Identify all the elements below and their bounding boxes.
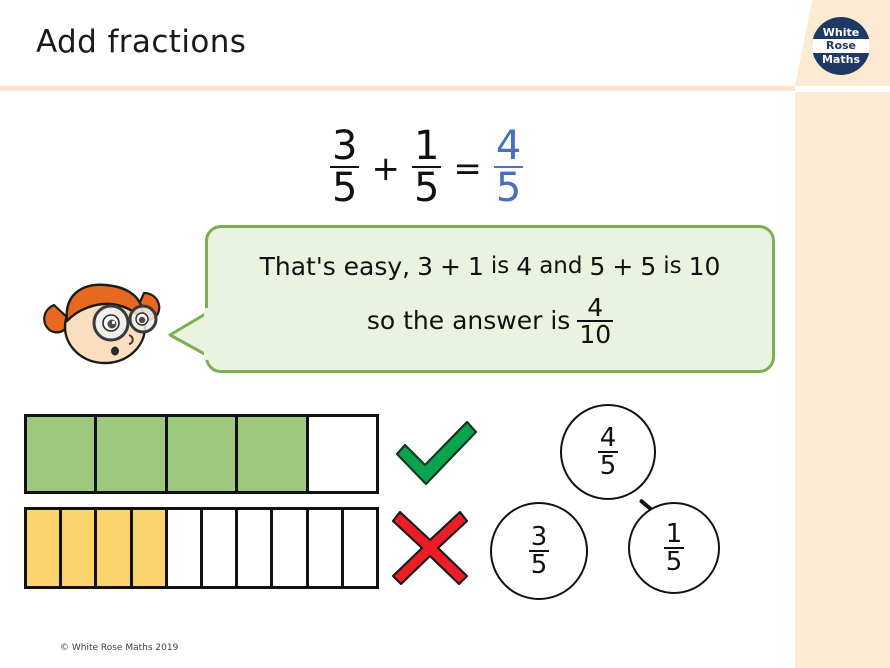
equation-answer: 4 5 xyxy=(494,126,523,208)
bar-cell xyxy=(344,510,376,586)
speech-line-2: so the answer is 4 10 xyxy=(367,295,613,347)
bar-cell xyxy=(168,417,238,491)
speech-num-5a: 5 xyxy=(589,252,605,281)
white-rose-maths-logo: White Rose Maths xyxy=(812,17,870,75)
tick-icon xyxy=(392,418,480,492)
speech-num-1: 1 xyxy=(468,252,484,281)
answer-numerator: 4 xyxy=(494,126,523,166)
speech-num-5b: 5 xyxy=(640,252,656,281)
speech-word-is-1: is xyxy=(491,253,509,279)
speech-num-4: 4 xyxy=(516,252,532,281)
speech-word-is-2: is xyxy=(663,253,681,279)
part-b-fraction: 1 5 xyxy=(664,521,685,575)
term-2-numerator: 1 xyxy=(412,126,441,166)
fraction-equation: 3 5 + 1 5 = 4 5 xyxy=(330,126,523,208)
equation-term-1: 3 5 xyxy=(330,126,359,208)
page-title: Add fractions xyxy=(36,24,246,60)
answer-denominator: 5 xyxy=(494,166,523,208)
logo-band: Rose xyxy=(812,39,870,53)
speech-num-3: 3 xyxy=(417,252,433,281)
term-2-denominator: 5 xyxy=(412,166,441,208)
bar-cell xyxy=(27,510,62,586)
bar-cell xyxy=(62,510,97,586)
term-1-denominator: 5 xyxy=(330,166,359,208)
bar-cell xyxy=(168,510,203,586)
speech-num-10: 10 xyxy=(689,252,721,281)
logo-line-white: White xyxy=(823,26,859,39)
girl-character-icon xyxy=(36,275,176,370)
equation-term-2: 1 5 xyxy=(412,126,441,208)
bar-cell xyxy=(97,510,132,586)
bar-cell xyxy=(309,510,344,586)
part-a-fraction: 3 5 xyxy=(529,524,550,578)
part-a-numerator: 3 xyxy=(529,524,550,550)
part-b-denominator: 5 xyxy=(664,547,685,575)
plus-operator: + xyxy=(369,149,402,189)
part-whole-part-a-node: 3 5 xyxy=(490,502,588,600)
logo-line-rose: Rose xyxy=(812,39,870,53)
speech-bubble-text: That's easy, 3 + 1 is 4 and 5 + 5 is 10 … xyxy=(208,228,772,370)
bar-cell xyxy=(238,417,308,491)
term-1-numerator: 3 xyxy=(330,126,359,166)
slide-canvas: Add fractions White Rose Maths 3 5 + 1 5… xyxy=(0,0,890,668)
bar-cell xyxy=(27,417,97,491)
part-a-denominator: 5 xyxy=(529,550,550,578)
part-whole-whole-node: 4 5 xyxy=(560,404,656,500)
speech-bubble: That's easy, 3 + 1 is 4 and 5 + 5 is 10 … xyxy=(205,225,775,373)
equals-operator: = xyxy=(451,149,484,189)
speech-answer-fraction: 4 10 xyxy=(577,295,613,347)
speech-answer-denominator: 10 xyxy=(577,320,613,347)
whole-denominator: 5 xyxy=(598,451,619,479)
bar-cell xyxy=(238,510,273,586)
part-whole-model: 4 5 3 5 1 5 xyxy=(480,402,770,602)
speech-line-1: That's easy, 3 + 1 is 4 and 5 + 5 is 10 xyxy=(260,252,721,281)
logo-line-maths: Maths xyxy=(822,53,860,66)
speech-word-and: and xyxy=(539,253,582,279)
bar-cell xyxy=(203,510,238,586)
speech-plus-2: + xyxy=(612,252,633,281)
speech-phrase-thats-easy: That's easy, xyxy=(260,252,411,281)
whole-numerator: 4 xyxy=(598,425,619,451)
part-whole-part-b-node: 1 5 xyxy=(628,502,720,594)
copyright-footer: © White Rose Maths 2019 xyxy=(60,643,178,653)
bar-cell xyxy=(97,417,167,491)
speech-phrase-answer-is: so the answer is xyxy=(367,306,570,335)
bar-cell xyxy=(309,417,376,491)
bar-model-fifths xyxy=(24,414,379,494)
cross-icon xyxy=(390,508,470,586)
right-accent-panel xyxy=(795,92,890,668)
speech-answer-numerator: 4 xyxy=(585,295,605,320)
bar-model-tenths xyxy=(24,507,379,589)
whole-fraction: 4 5 xyxy=(598,425,619,479)
header-divider xyxy=(0,86,795,91)
bar-cell xyxy=(133,510,168,586)
part-b-numerator: 1 xyxy=(664,521,685,547)
bar-cell xyxy=(273,510,308,586)
speech-plus-1: + xyxy=(440,252,461,281)
